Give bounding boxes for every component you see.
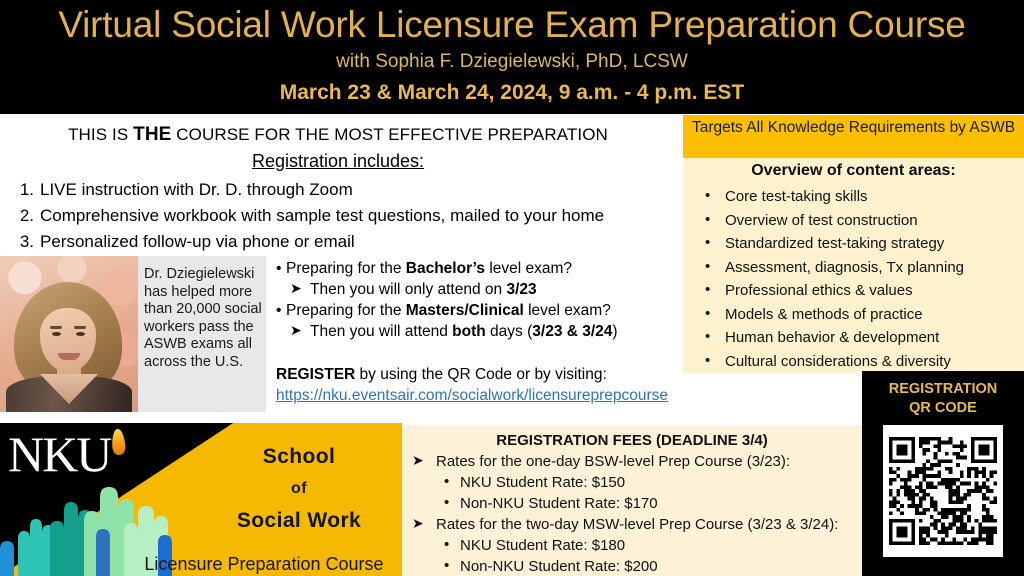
arrow-icon: ➤ <box>290 320 302 341</box>
photo-brow-left <box>50 326 62 329</box>
list-item-number: 1. <box>14 177 34 203</box>
school-line-1: School <box>196 441 402 473</box>
registration-link[interactable]: https://nku.eventsair.com/socialwork/lic… <box>276 386 676 406</box>
fees-rate-item: •Non-NKU Student Rate: $200 <box>402 556 862 576</box>
list-item: •Overview of test construction <box>683 209 1024 233</box>
list-item: 1.LIVE instruction with Dr. D. through Z… <box>14 177 676 203</box>
intro-headline: THIS IS THE COURSE FOR THE MOST EFFECTIV… <box>0 118 676 146</box>
bullet-icon: • <box>705 255 710 279</box>
fees-rate-item: •NKU Student Rate: $180 <box>402 535 862 556</box>
school-line-3: Social Work <box>196 505 402 537</box>
registration-fees-panel: REGISTRATION FEES (DEADLINE 3/4) ➤Rates … <box>402 425 862 576</box>
list-item-label: Comprehensive workbook with sample test … <box>40 206 604 225</box>
presenter-bio-text: Dr. Dziegielewski has helped more than 2… <box>144 266 262 371</box>
list-item: •Assessment, diagnosis, Tx planning <box>683 256 1024 280</box>
list-item-label: Professional ethics & values <box>725 282 913 299</box>
list-item-label: Assessment, diagnosis, Tx planning <box>725 259 964 276</box>
intro-section: THIS IS THE COURSE FOR THE MOST EFFECTIV… <box>0 118 676 255</box>
qr-title-line-1: REGISTRATION <box>862 380 1024 399</box>
bullet-icon: • <box>444 534 449 555</box>
photo-mouth <box>58 353 80 360</box>
qr-code-image[interactable] <box>883 425 1003 557</box>
fees-group-heading: ➤Rates for the one-day BSW-level Prep Co… <box>402 451 862 472</box>
list-item-label: Personalized follow-up via phone or emai… <box>40 232 355 251</box>
bullet-icon: • <box>276 300 281 321</box>
presenter-name: with Sophia F. Dziegielewski, PhD, LCSW <box>0 50 1024 74</box>
register-instruction: REGISTER by using the QR Code or by visi… <box>276 364 676 406</box>
list-item-label: Standardized test-taking strategy <box>725 235 944 252</box>
fees-title: REGISTRATION FEES (DEADLINE 3/4) <box>402 425 862 451</box>
school-name: School of Social Work <box>196 441 402 537</box>
photo-brow-right <box>74 326 86 329</box>
list-item: •Professional ethics & values <box>683 279 1024 303</box>
bullet-icon: • <box>444 555 449 576</box>
bullet-icon: • <box>705 278 710 302</box>
fees-group-heading: ➤Rates for the two-day MSW-level Prep Co… <box>402 514 862 535</box>
photo-eye-left <box>52 332 61 336</box>
list-item-label: Models & methods of practice <box>725 306 923 323</box>
bullet-icon: • <box>276 258 281 279</box>
presenter-photo <box>0 256 138 412</box>
fees-rate-item: •Non-NKU Student Rate: $170 <box>402 493 862 514</box>
aswb-subheader: Overview of content areas: <box>683 162 1024 180</box>
list-item-label: Core test-taking skills <box>725 188 868 205</box>
nku-branding-banner: NKU School of Social Work Licensure Prep… <box>0 423 402 576</box>
school-line-2: of <box>196 473 402 505</box>
bullet-icon: • <box>705 231 710 255</box>
list-item: •Models & methods of practice <box>683 303 1024 327</box>
registration-includes-list: 1.LIVE instruction with Dr. D. through Z… <box>0 177 676 255</box>
banner-tagline: Licensure Preparation Course <box>126 553 402 575</box>
list-item-label: LIVE instruction with Dr. D. through Zoo… <box>40 180 353 199</box>
bullet-icon: • <box>444 471 449 492</box>
bullet-icon: • <box>705 302 710 326</box>
list-item: •Cultural considerations & diversity <box>683 350 1024 374</box>
qr-title-line-2: QR CODE <box>862 399 1024 418</box>
list-item-number: 3. <box>14 229 34 255</box>
register-label: REGISTER <box>276 366 355 383</box>
page-title: Virtual Social Work Licensure Exam Prepa… <box>0 4 1024 46</box>
bullet-icon: • <box>444 492 449 513</box>
bullet-icon: • <box>705 208 710 232</box>
list-item-label: Human behavior & development <box>725 329 939 346</box>
poster-canvas: Virtual Social Work Licensure Exam Prepa… <box>0 0 1024 576</box>
masters-answer: ➤Then you will attend both days (3/23 & … <box>276 321 676 342</box>
qr-panel-title: REGISTRATION QR CODE <box>862 380 1024 418</box>
qr-code-svg <box>889 431 997 551</box>
list-item-label: Overview of test construction <box>725 212 918 229</box>
arrow-icon: ➤ <box>412 513 424 534</box>
arrow-icon: ➤ <box>412 450 424 471</box>
intro-headline-suffix: COURSE FOR THE MOST EFFECTIVE PREPARATIO… <box>171 125 608 144</box>
event-dates: March 23 & March 24, 2024, 9 a.m. - 4 p.… <box>0 80 1024 106</box>
intro-headline-prefix: THIS IS <box>68 125 133 144</box>
aswb-panel-header: Targets All Knowledge Requirements by AS… <box>683 115 1024 158</box>
intro-headline-emphasis: THE <box>133 124 171 145</box>
photo-eye-right <box>76 332 85 336</box>
presenter-bio-box: Dr. Dziegielewski has helped more than 2… <box>0 256 266 412</box>
qr-code-panel: REGISTRATION QR CODE <box>862 371 1024 576</box>
bachelor-answer: ➤Then you will only attend on 3/23 <box>276 279 676 300</box>
nku-logo: NKU <box>8 427 110 481</box>
exam-level-section: •Preparing for the Bachelor’s level exam… <box>276 258 676 406</box>
masters-question: •Preparing for the Masters/Clinical leve… <box>276 300 676 321</box>
list-item: •Standardized test-taking strategy <box>683 232 1024 256</box>
list-item-number: 2. <box>14 203 34 229</box>
bullet-icon: • <box>705 184 710 208</box>
bachelor-question: •Preparing for the Bachelor’s level exam… <box>276 258 676 279</box>
list-item: 2.Comprehensive workbook with sample tes… <box>14 203 676 229</box>
list-item-label: Cultural considerations & diversity <box>725 353 951 370</box>
fees-rate-item: •NKU Student Rate: $150 <box>402 472 862 493</box>
bullet-icon: • <box>705 325 710 349</box>
flame-icon <box>111 429 126 456</box>
aswb-content-panel: Targets All Knowledge Requirements by AS… <box>683 115 1024 373</box>
arrow-icon: ➤ <box>290 278 302 299</box>
poster-header: Virtual Social Work Licensure Exam Prepa… <box>0 0 1024 114</box>
bullet-icon: • <box>705 349 710 373</box>
registration-includes-label: Registration includes: <box>0 149 676 173</box>
list-item: •Human behavior & development <box>683 326 1024 350</box>
list-item: 3.Personalized follow-up via phone or em… <box>14 229 676 255</box>
aswb-topic-list: •Core test-taking skills •Overview of te… <box>683 185 1024 373</box>
list-item: •Core test-taking skills <box>683 185 1024 209</box>
